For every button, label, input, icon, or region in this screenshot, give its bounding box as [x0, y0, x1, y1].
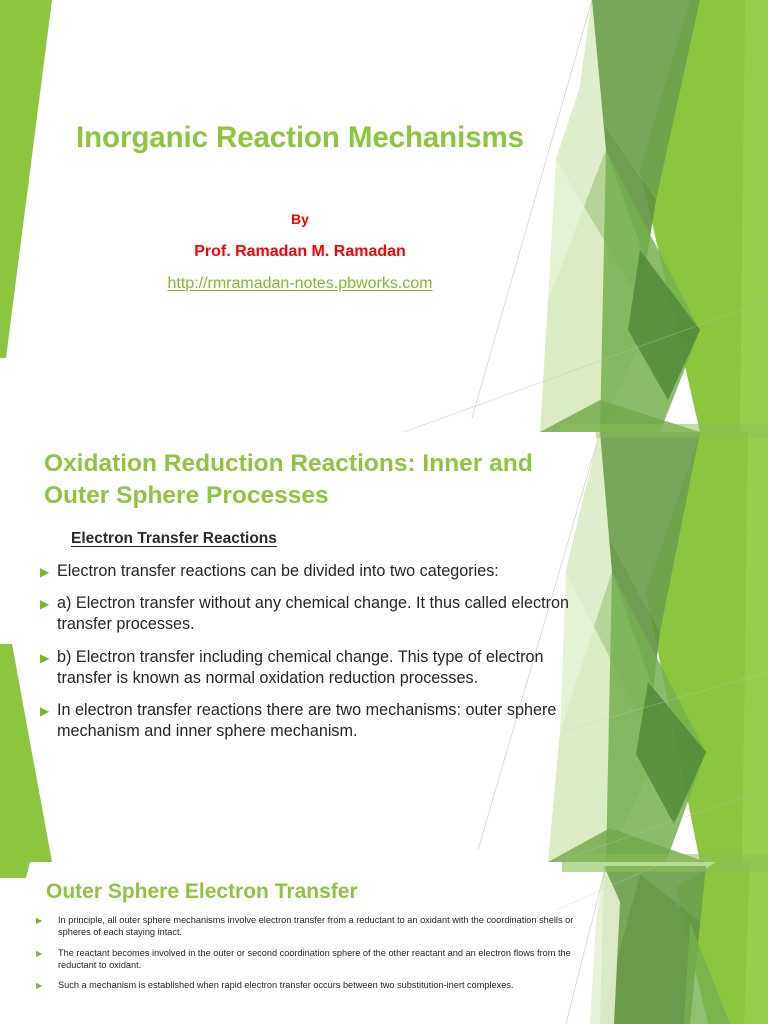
list-item-text: In electron transfer reactions there are…: [57, 700, 574, 742]
list-item: ▶ In principle, all outer sphere mechani…: [36, 914, 581, 939]
facet-bright-right: [676, 862, 768, 1024]
list-item: ▶ Electron transfer reactions can be div…: [40, 561, 574, 582]
facet-dark-mid: [566, 492, 660, 732]
bullet-triangle-icon: ▶: [40, 566, 57, 578]
facet-dark-upper: [585, 432, 700, 632]
slide3-bullet-list: ▶ In principle, all outer sphere mechani…: [36, 914, 581, 1000]
facet-bright-right: [646, 432, 768, 862]
facet-mid-green-bottom: [540, 400, 700, 432]
list-item-text: Such a mechanism is established when rap…: [58, 979, 581, 991]
bullet-triangle-icon: ▶: [36, 982, 58, 990]
bullet-triangle-icon: ▶: [40, 598, 57, 610]
list-item: ▶ The reactant becomes involved in the o…: [36, 947, 581, 972]
slide2-subheading: Electron Transfer Reactions: [71, 530, 277, 548]
facet-deep-notch: [628, 250, 700, 400]
list-item-text: b) Electron transfer including chemical …: [57, 647, 574, 689]
slide2-title: Oxidation Reduction Reactions: Inner and…: [44, 448, 574, 513]
list-item-text: In principle, all outer sphere mechanism…: [58, 914, 581, 939]
hairline-diagonal: [560, 672, 768, 732]
byline-label: By: [0, 211, 600, 227]
facet-bright-far-right: [740, 0, 768, 432]
slide2-bullet-list: ▶ Electron transfer reactions can be div…: [40, 561, 574, 754]
list-item: ▶ Such a mechanism is established when r…: [36, 979, 581, 991]
facet-bottom-wedge: [548, 828, 706, 862]
bullet-triangle-icon: ▶: [40, 652, 57, 664]
top-left-tab-shape: [0, 862, 30, 878]
bullet-triangle-icon: ▶: [40, 705, 57, 717]
bullet-triangle-icon: ▶: [36, 917, 58, 925]
list-item-text: a) Electron transfer without any chemica…: [57, 593, 574, 635]
page-title: Inorganic Reaction Mechanisms: [0, 122, 600, 154]
hairline-lower: [556, 788, 768, 862]
facet-deep-notch: [636, 682, 706, 824]
bullet-triangle-icon: ▶: [36, 950, 58, 958]
facet-mid-green-lower: [600, 150, 700, 432]
hairline-lower: [556, 864, 660, 910]
hairline-lower: [404, 300, 768, 432]
slide3-title: Outer Sphere Electron Transfer: [46, 880, 358, 904]
slide-outer-sphere: Outer Sphere Electron Transfer ▶ In prin…: [0, 862, 768, 1024]
left-wedge-shape: [0, 0, 52, 358]
facet-bottom-strip: [566, 854, 768, 862]
list-item: ▶ b) Electron transfer including chemica…: [40, 647, 574, 689]
facet-mid-green-lower: [684, 922, 730, 1024]
facet-dark-mid: [556, 88, 656, 300]
slide-oxidation-reduction: Oxidation Reduction Reactions: Inner and…: [0, 432, 768, 862]
facet-dark-upper: [600, 866, 706, 1024]
facet-bottom-strip: [560, 424, 768, 432]
facet-dark-upper: [580, 0, 700, 200]
list-item-text: The reactant becomes involved in the out…: [58, 947, 581, 972]
facet-pale-left: [590, 866, 620, 1024]
facet-bright-far-right: [742, 432, 768, 862]
list-item: ▶ In electron transfer reactions there a…: [40, 700, 574, 742]
list-item-text: Electron transfer reactions can be divid…: [57, 561, 574, 582]
facet-bright-right: [640, 0, 768, 432]
hairline-upper: [472, 0, 592, 418]
list-item: ▶ a) Electron transfer without any chemi…: [40, 593, 574, 635]
facet-top-cap: [596, 432, 768, 438]
facet-dark-mid: [600, 874, 700, 1024]
facet-top-cap: [562, 862, 768, 872]
facet-mid-green-lower: [606, 572, 706, 862]
author-name: Prof. Ramadan M. Ramadan: [0, 243, 600, 261]
facet-bright-far-right: [744, 862, 768, 1024]
presentation-page: Inorganic Reaction Mechanisms By Prof. R…: [0, 0, 768, 1024]
slide-title: Inorganic Reaction Mechanisms By Prof. R…: [0, 0, 768, 432]
notes-website-link[interactable]: http://rmramadan-notes.pbworks.com: [0, 275, 600, 293]
